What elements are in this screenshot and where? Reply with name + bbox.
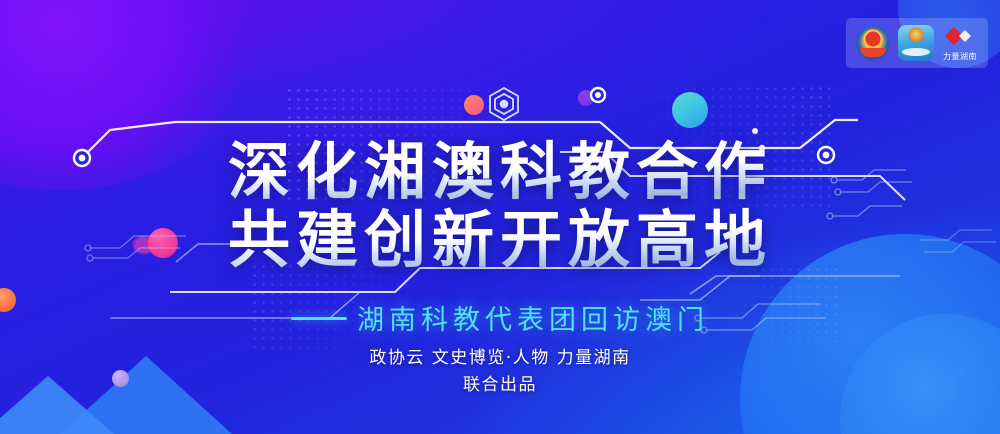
headline-block: 深化湘澳科教合作 共建创新开放高地 bbox=[0, 138, 1000, 274]
headline-line-2: 共建创新开放高地 bbox=[0, 206, 1000, 274]
cppcc-emblem-icon[interactable] bbox=[854, 24, 892, 62]
liliang-diamond-icon bbox=[944, 26, 974, 46]
orange-pink-dot-decoration bbox=[464, 95, 484, 115]
small-white-dot bbox=[752, 128, 758, 134]
subtitle-dash-icon bbox=[291, 317, 347, 320]
liliang-hunan-label: 力量湖南 bbox=[940, 51, 980, 62]
subtitle-block: 湖南科教代表团回访澳门 bbox=[0, 298, 1000, 337]
headline-line-1: 深化湘澳科教合作 bbox=[0, 138, 1000, 206]
teal-dot-decoration bbox=[672, 92, 708, 128]
subtitle-text: 湖南科教代表团回访澳门 bbox=[357, 305, 709, 336]
poster-banner: 深化湘澳科教合作 共建创新开放高地 湖南科教代表团回访澳门 政协云 文史博览·人… bbox=[0, 0, 1000, 434]
credits-line-2: 联合出品 bbox=[0, 372, 1000, 399]
credits-block: 政协云 文史博览·人物 力量湖南 联合出品 bbox=[0, 345, 1000, 399]
violet-dot-decoration bbox=[578, 90, 594, 106]
logo-panel: 力量湖南 bbox=[846, 18, 988, 68]
liliang-hunan-logo-icon[interactable]: 力量湖南 bbox=[940, 24, 980, 62]
wenshibolan-app-icon[interactable] bbox=[897, 24, 935, 62]
credits-line-1: 政协云 文史博览·人物 力量湖南 bbox=[0, 345, 1000, 372]
